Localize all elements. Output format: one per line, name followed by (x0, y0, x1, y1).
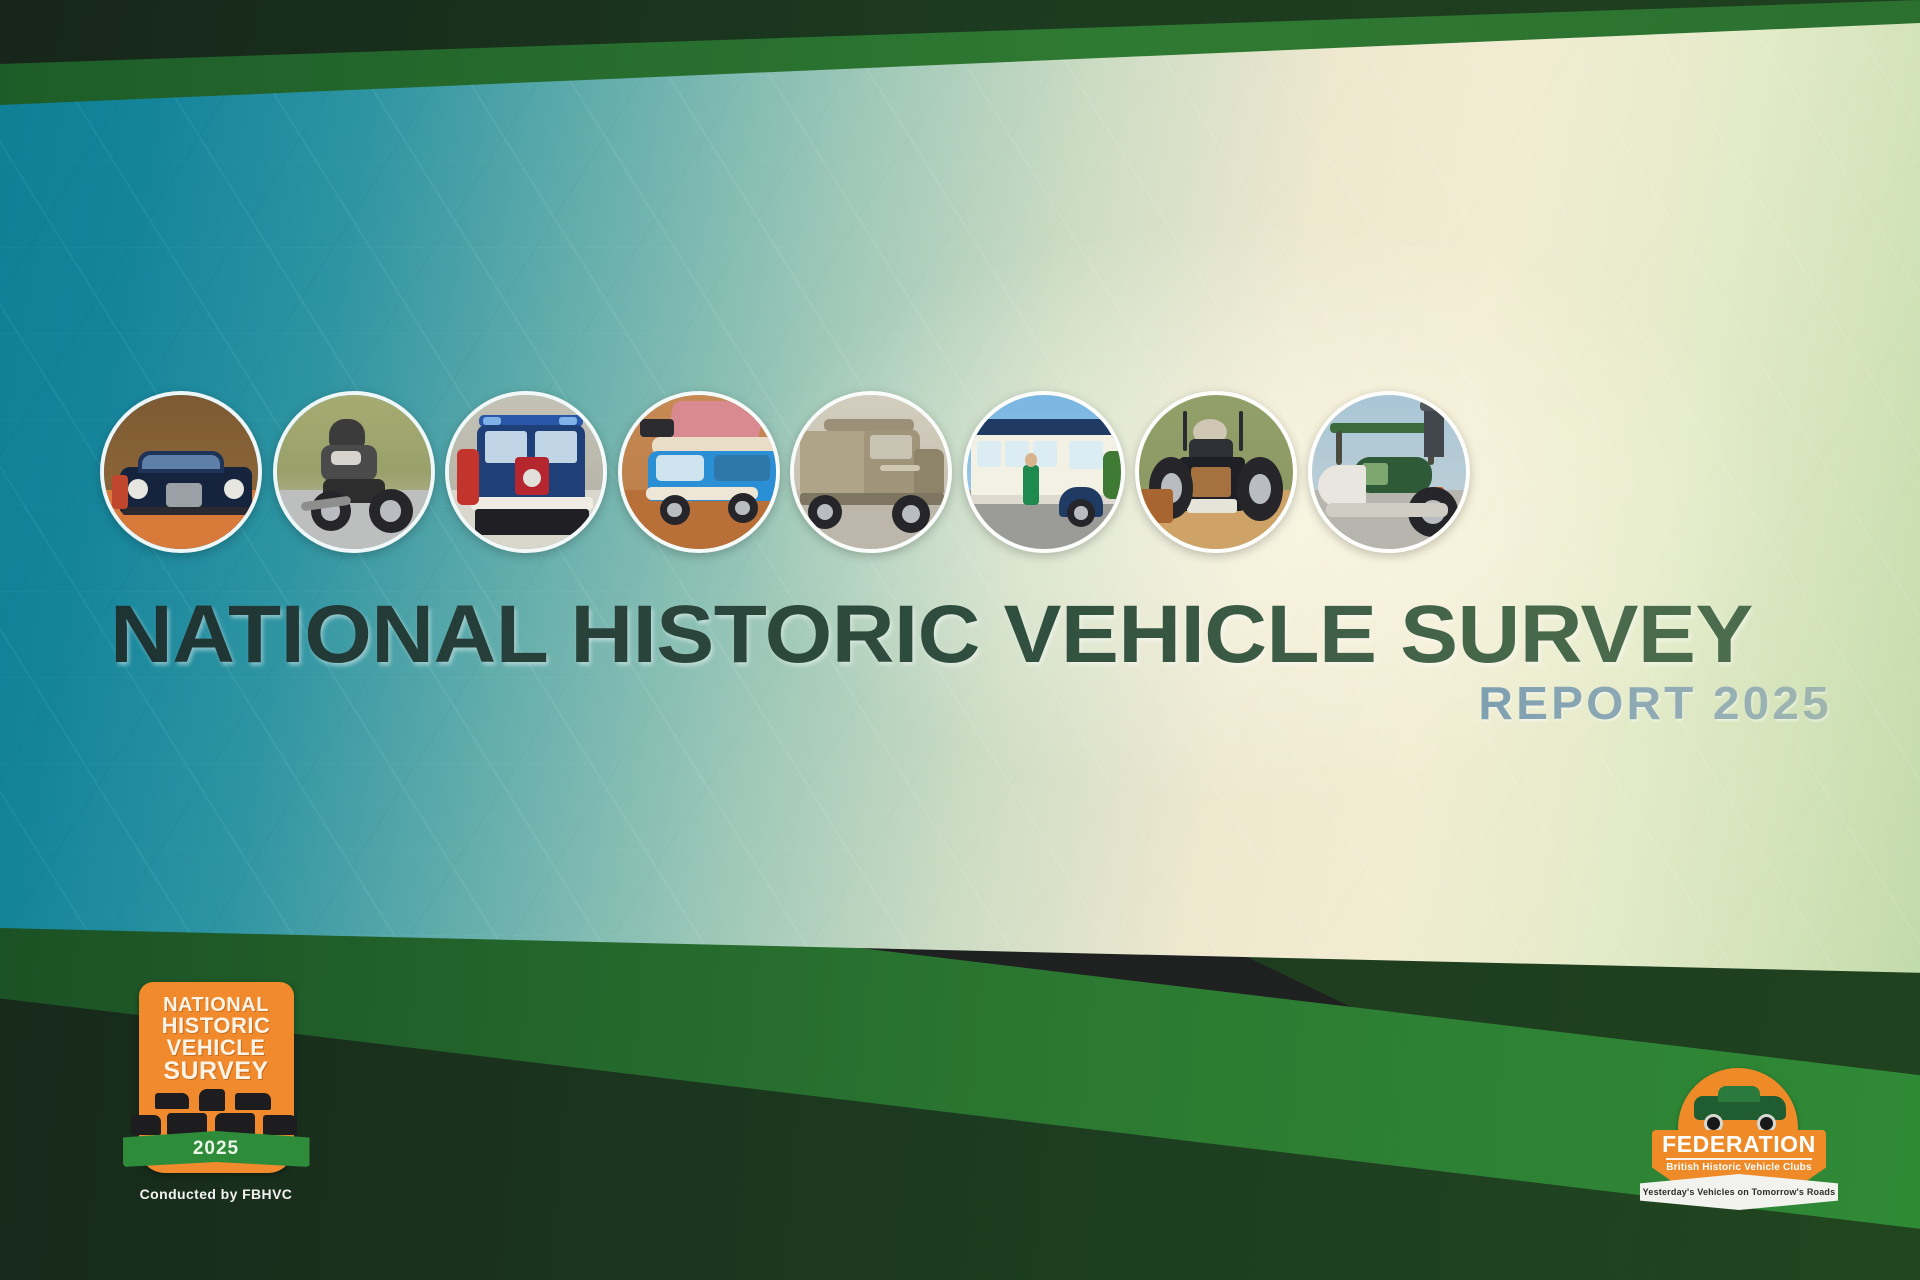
nhvs-badge-line-historic: HISTORIC (147, 1015, 286, 1037)
vehicle-circle-classic-sports-car (100, 391, 262, 553)
page-subtitle: REPORT 2025 (1479, 676, 1832, 730)
vehicle-circle-vintage-motorcycle (273, 391, 435, 553)
silhouette-motorcycle (199, 1089, 225, 1111)
silhouette-car-1 (155, 1093, 189, 1109)
nhvs-badge-year-banner: 2025 (123, 1131, 310, 1167)
vehicle-circle-classic-campervan (618, 391, 780, 553)
silhouette-car-2 (235, 1093, 271, 1110)
vehicle-circle-military-truck (790, 391, 952, 553)
vehicle-circle-vintage-fire-engine (445, 391, 607, 553)
nhvs-badge-year: 2025 (193, 1138, 239, 1160)
vehicle-circle-vintage-coach-bus (963, 391, 1125, 553)
nhvs-badge-line-vehicle: VEHICLE (147, 1037, 286, 1059)
nhvs-badge-logo: NATIONAL HISTORIC VEHICLE SURVEY 2025 Co… (126, 982, 306, 1202)
page-title: NATIONAL HISTORIC VEHICLE SURVEY (110, 596, 1806, 675)
vehicle-circle-vintage-tractor (1135, 391, 1297, 553)
nhvs-badge-card: NATIONAL HISTORIC VEHICLE SURVEY 2025 (139, 982, 294, 1173)
nhvs-badge-caption: Conducted by FBHVC (126, 1186, 306, 1202)
federation-logo-rule (1666, 1158, 1812, 1160)
nhvs-badge-line-national: NATIONAL (147, 995, 286, 1015)
vehicle-circle-steam-traction-engine (1308, 391, 1470, 553)
federation-logo: FEDERATION British Historic Vehicle Club… (1644, 1068, 1834, 1218)
federation-logo-subtitle: British Historic Vehicle Clubs (1652, 1162, 1826, 1173)
silhouette-tractor (131, 1115, 161, 1135)
silhouette-truck (263, 1115, 297, 1135)
federation-logo-tagline: Yesterday's Vehicles on Tomorrow's Roads (1643, 1187, 1836, 1197)
federation-logo-title: FEDERATION (1652, 1133, 1826, 1156)
vehicle-circle-strip (100, 388, 1470, 556)
poster-canvas: NATIONAL HISTORIC VEHICLE SURVEY REPORT … (0, 0, 1920, 1280)
federation-logo-car-icon (1694, 1084, 1786, 1128)
nhvs-badge-line-survey: SURVEY (147, 1059, 286, 1084)
